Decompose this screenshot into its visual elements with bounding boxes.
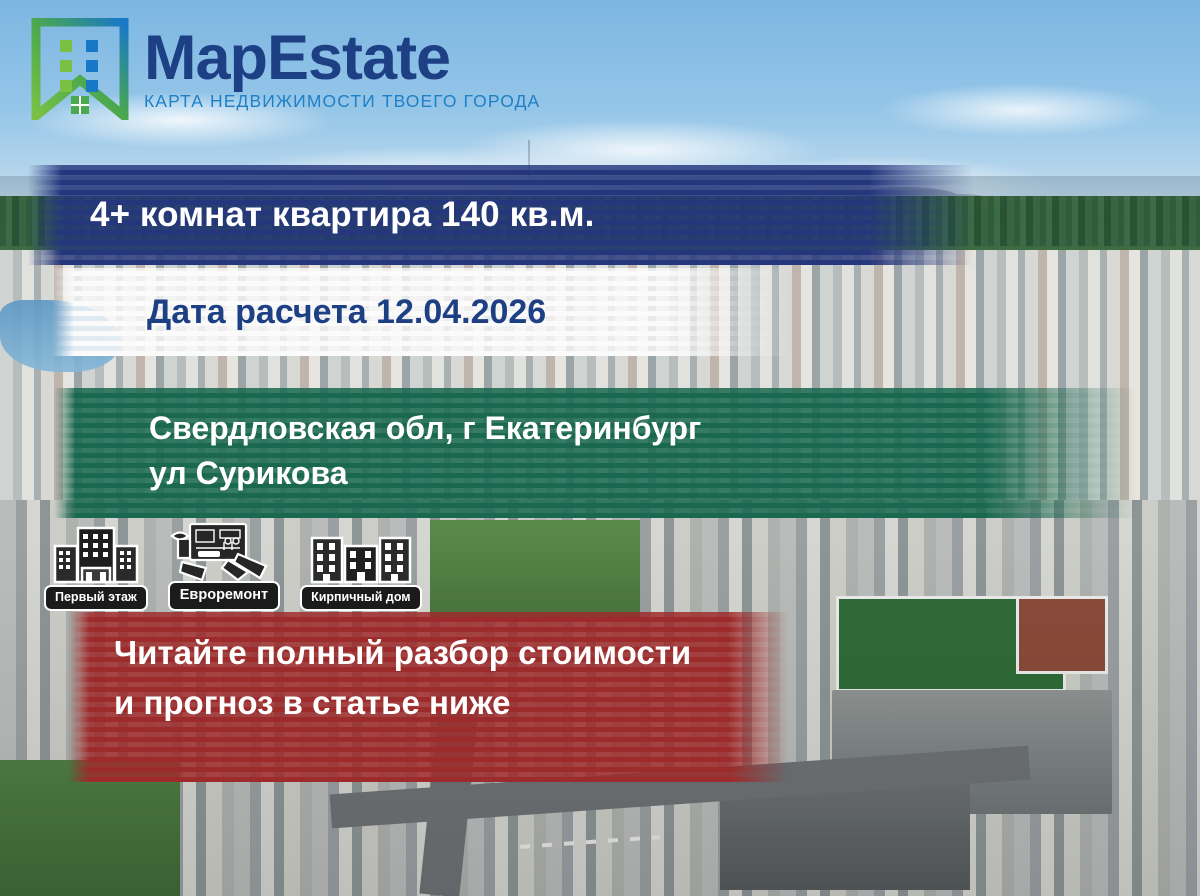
cta-band[interactable]: Читайте полный разбор стоимости и прогно… [68,612,788,782]
headline-band: 4+ комнат квартира 140 кв.м. [28,165,983,265]
brick-house-icon [309,524,413,591]
cta-text: Читайте полный разбор стоимости и прогно… [68,612,708,728]
headline-text: 4+ комнат квартира 140 кв.м. [28,195,594,235]
promo-poster: MapEstate КАРТА НЕДВИЖИМОСТИ ТВОЕГО ГОРО… [0,0,1200,896]
address-line-1: Свердловская обл, г Екатеринбург [149,406,701,451]
brand-tagline: КАРТА НЕДВИЖИМОСТИ ТВОЕГО ГОРОДА [144,91,540,112]
feature-badges: Первый этаж [44,518,422,611]
calc-date-band: Дата расчета 12.04.2026 [52,268,792,356]
address-text: Свердловская обл, г Екатеринбург ул Сури… [54,388,701,497]
renovation-tools-blueprint-icon [168,518,280,587]
brand-name: MapEstate [144,26,540,90]
map-bookmark-building-icon [30,18,130,120]
badge-label: Кирпичный дом [300,585,421,611]
badge-first-floor[interactable]: Первый этаж [44,524,148,611]
calc-date-text: Дата расчета 12.04.2026 [52,293,546,332]
apartment-building-icon [52,524,140,591]
badge-euro-renovation[interactable]: Евроремонт [168,518,280,611]
address-line-2: ул Сурикова [149,451,701,496]
address-band: Свердловская обл, г Екатеринбург ул Сури… [54,388,1136,518]
badge-label: Первый этаж [44,585,148,611]
brand-logo[interactable]: MapEstate КАРТА НЕДВИЖИМОСТИ ТВОЕГО ГОРО… [30,18,540,120]
badge-label: Евроремонт [168,581,280,611]
badge-brick-house[interactable]: Кирпичный дом [300,524,421,611]
